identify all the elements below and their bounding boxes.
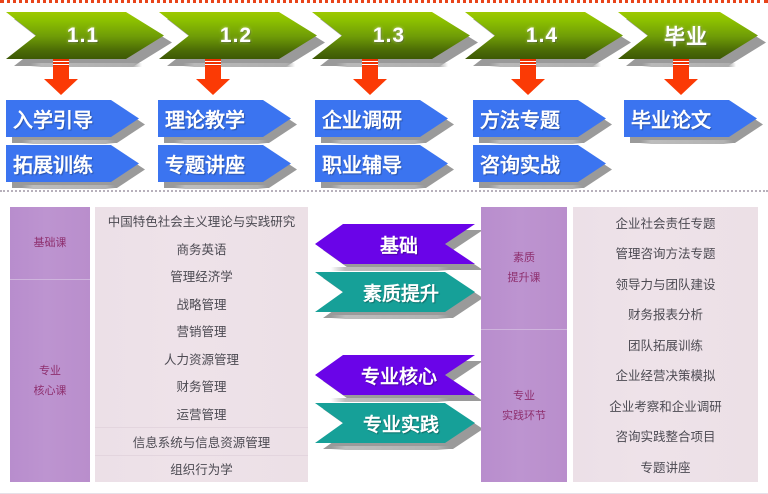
down-arrow-icon-3 — [353, 59, 387, 95]
arrow-shaft — [53, 66, 69, 81]
stage-chevron-3[interactable]: 1.3 — [312, 12, 470, 59]
activity-label: 方法专题 — [473, 104, 560, 133]
category-label-line: 专业 — [39, 361, 61, 381]
arrow-underbar — [331, 315, 449, 319]
course-item[interactable]: 企业考察和企业调研 — [573, 390, 758, 421]
course-label: 信息系统与信息资源管理 — [133, 432, 271, 451]
chevron-underbar — [489, 140, 582, 144]
chevron-body: 拓展训练 — [6, 145, 139, 182]
course-item[interactable]: 中国特色社会主义理论与实践研究 — [95, 207, 308, 235]
course-label: 管理经济学 — [170, 266, 233, 285]
course-label: 战略管理 — [176, 294, 226, 313]
category-label-line: 实践环节 — [502, 406, 546, 426]
stage-chevron-1[interactable]: 1.1 — [6, 12, 164, 59]
category-label-line: 素质 — [513, 248, 535, 268]
chevron-body: 企业调研 — [315, 100, 448, 137]
stream-label: 专业实践 — [363, 410, 439, 437]
course-item[interactable]: 组织行为学 — [95, 455, 308, 483]
stage-underbar — [489, 63, 601, 67]
arrow-head — [353, 79, 387, 95]
activity-chevron-4-secondary[interactable]: 咨询实战 — [473, 145, 606, 182]
stream-arrow-basic[interactable]: 基础 — [315, 224, 475, 264]
chevron-body: 方法专题 — [473, 100, 606, 137]
chevron-underbar — [331, 185, 424, 189]
activity-chevron-5-primary[interactable]: 毕业论文 — [624, 100, 757, 137]
chevron-underbar — [640, 140, 733, 144]
course-label: 企业经营决策模拟 — [615, 365, 715, 384]
arrow-cap — [520, 59, 536, 66]
arrow-head — [664, 79, 698, 95]
activity-label: 拓展训练 — [6, 149, 93, 178]
course-label: 人力资源管理 — [164, 349, 239, 368]
arrow-head — [196, 79, 230, 95]
chevron-body: 职业辅导 — [315, 145, 448, 182]
course-item[interactable]: 信息系统与信息资源管理 — [95, 427, 308, 455]
course-label: 专题讲座 — [640, 457, 690, 476]
arrow-cap — [673, 59, 689, 66]
arrow-body: 专业实践 — [315, 403, 475, 443]
category-label-line: 专业 — [513, 386, 535, 406]
stream-label: 素质提升 — [363, 279, 439, 306]
chevron-body: 理论教学 — [158, 100, 291, 137]
course-item[interactable]: 商务英语 — [95, 235, 308, 263]
arrow-shaft — [205, 66, 221, 81]
down-arrow-icon-4 — [511, 59, 545, 95]
right-category-column: 素质 提升课 专业 实践环节 — [481, 207, 567, 482]
course-item[interactable]: 人力资源管理 — [95, 345, 308, 373]
arrow-underbar — [331, 446, 449, 450]
arrow-underbar — [331, 398, 449, 402]
stage-chevron-4[interactable]: 1.4 — [465, 12, 623, 59]
chevron-body: 毕业论文 — [624, 100, 757, 137]
chevron-body: 入学引导 — [6, 100, 139, 137]
stage-chevron-2[interactable]: 1.2 — [159, 12, 317, 59]
course-item[interactable]: 管理咨询方法专题 — [573, 238, 758, 269]
activity-chevron-4-primary[interactable]: 方法专题 — [473, 100, 606, 137]
activity-label: 理论教学 — [158, 104, 245, 133]
arrow-head — [44, 79, 78, 95]
activity-chevron-1-primary[interactable]: 入学引导 — [6, 100, 139, 137]
course-label: 运营管理 — [176, 404, 226, 423]
activity-label: 入学引导 — [6, 104, 93, 133]
activity-label: 咨询实战 — [473, 149, 560, 178]
stream-arrow-major-core[interactable]: 专业核心 — [315, 355, 475, 395]
down-arrow-icon-5 — [664, 59, 698, 95]
stream-label: 专业核心 — [361, 362, 437, 389]
course-item[interactable]: 财务报表分析 — [573, 299, 758, 330]
stream-arrow-major-practice[interactable]: 专业实践 — [315, 403, 475, 443]
course-item[interactable]: 财务管理 — [95, 372, 308, 400]
activity-label: 职业辅导 — [315, 149, 402, 178]
arrow-cap — [362, 59, 378, 66]
chevron-underbar — [174, 140, 267, 144]
chevron-underbar — [22, 185, 115, 189]
course-item[interactable]: 咨询实践整合项目 — [573, 421, 758, 452]
stage-chevron-label: 1.4 — [526, 24, 558, 48]
down-arrow-icon-2 — [196, 59, 230, 95]
arrow-cap — [53, 59, 69, 66]
course-item[interactable]: 战略管理 — [95, 290, 308, 318]
category-label-line: 基础课 — [34, 233, 67, 253]
stage-chevron-label: 1.1 — [67, 24, 99, 48]
stage-chevron-label: 1.2 — [220, 24, 252, 48]
course-item[interactable]: 运营管理 — [95, 400, 308, 428]
course-item[interactable]: 专题讲座 — [573, 451, 758, 482]
stage-chevron-5[interactable]: 毕业 — [618, 12, 758, 59]
category-basic[interactable]: 基础课 — [10, 207, 90, 279]
course-label: 组织行为学 — [170, 459, 233, 478]
left-course-list: 中国特色社会主义理论与实践研究 商务英语 管理经济学 战略管理 营销管理 人力资… — [95, 207, 308, 482]
course-item[interactable]: 团队拓展训练 — [573, 329, 758, 360]
category-label-line: 提升课 — [508, 268, 541, 288]
chevron-underbar — [174, 185, 267, 189]
activity-chevron-2-secondary[interactable]: 专题讲座 — [158, 145, 291, 182]
arrow-underbar — [331, 267, 449, 271]
course-item[interactable]: 企业社会责任专题 — [573, 207, 758, 238]
arrow-head — [511, 79, 545, 95]
arrow-body: 素质提升 — [315, 272, 475, 312]
category-major-core[interactable]: 专业 核心课 — [10, 280, 90, 482]
right-course-list: 企业社会责任专题 管理咨询方法专题 领导力与团队建设 财务报表分析 团队拓展训练… — [573, 207, 758, 482]
course-label: 财务报表分析 — [628, 304, 703, 323]
course-label: 营销管理 — [176, 321, 226, 340]
course-item[interactable]: 企业经营决策模拟 — [573, 360, 758, 391]
activity-label: 企业调研 — [315, 104, 402, 133]
activity-chevron-1-secondary[interactable]: 拓展训练 — [6, 145, 139, 182]
stream-label: 基础 — [380, 231, 418, 258]
activity-label: 毕业论文 — [624, 104, 711, 133]
course-label: 咨询实践整合项目 — [615, 426, 715, 445]
arrow-cap — [205, 59, 221, 66]
arrow-shaft — [520, 66, 536, 81]
chevron-underbar — [489, 185, 582, 189]
course-label: 中国特色社会主义理论与实践研究 — [108, 211, 296, 230]
process-timeline-panel: 1.1 1.2 1.3 1.4 毕业 — [0, 0, 768, 190]
course-label: 企业社会责任专题 — [615, 213, 715, 232]
curriculum-panel: 基础课 专业 核心课 中国特色社会主义理论与实践研究 商务英语 管理经济学 战略… — [0, 190, 768, 494]
stream-arrow-quality[interactable]: 素质提升 — [315, 272, 475, 312]
course-label: 商务英语 — [176, 239, 226, 258]
course-item[interactable]: 营销管理 — [95, 317, 308, 345]
stage-chevron-label: 1.3 — [373, 24, 405, 48]
arrow-shaft — [362, 66, 378, 81]
course-label: 团队拓展训练 — [628, 335, 703, 354]
activity-chevron-2-primary[interactable]: 理论教学 — [158, 100, 291, 137]
course-label: 财务管理 — [176, 376, 226, 395]
chevron-underbar — [22, 140, 115, 144]
left-category-column: 基础课 专业 核心课 — [10, 207, 90, 482]
chevron-underbar — [331, 140, 424, 144]
chevron-body: 专题讲座 — [158, 145, 291, 182]
course-label: 企业考察和企业调研 — [609, 396, 722, 415]
course-item[interactable]: 领导力与团队建设 — [573, 268, 758, 299]
category-quality-improvement[interactable]: 素质 提升课 — [481, 207, 567, 329]
category-major-practice[interactable]: 专业 实践环节 — [481, 330, 567, 482]
activity-label: 专题讲座 — [158, 149, 245, 178]
chevron-body: 咨询实战 — [473, 145, 606, 182]
arrow-shaft — [673, 66, 689, 81]
down-arrow-icon-1 — [44, 59, 78, 95]
course-item[interactable]: 管理经济学 — [95, 262, 308, 290]
category-label-line: 核心课 — [34, 381, 67, 401]
stage-chevron-label: 毕业 — [664, 21, 708, 51]
course-label: 领导力与团队建设 — [615, 274, 715, 293]
activity-chevron-3-primary[interactable]: 企业调研 — [315, 100, 448, 137]
activity-chevron-3-secondary[interactable]: 职业辅导 — [315, 145, 448, 182]
course-label: 管理咨询方法专题 — [615, 243, 715, 262]
